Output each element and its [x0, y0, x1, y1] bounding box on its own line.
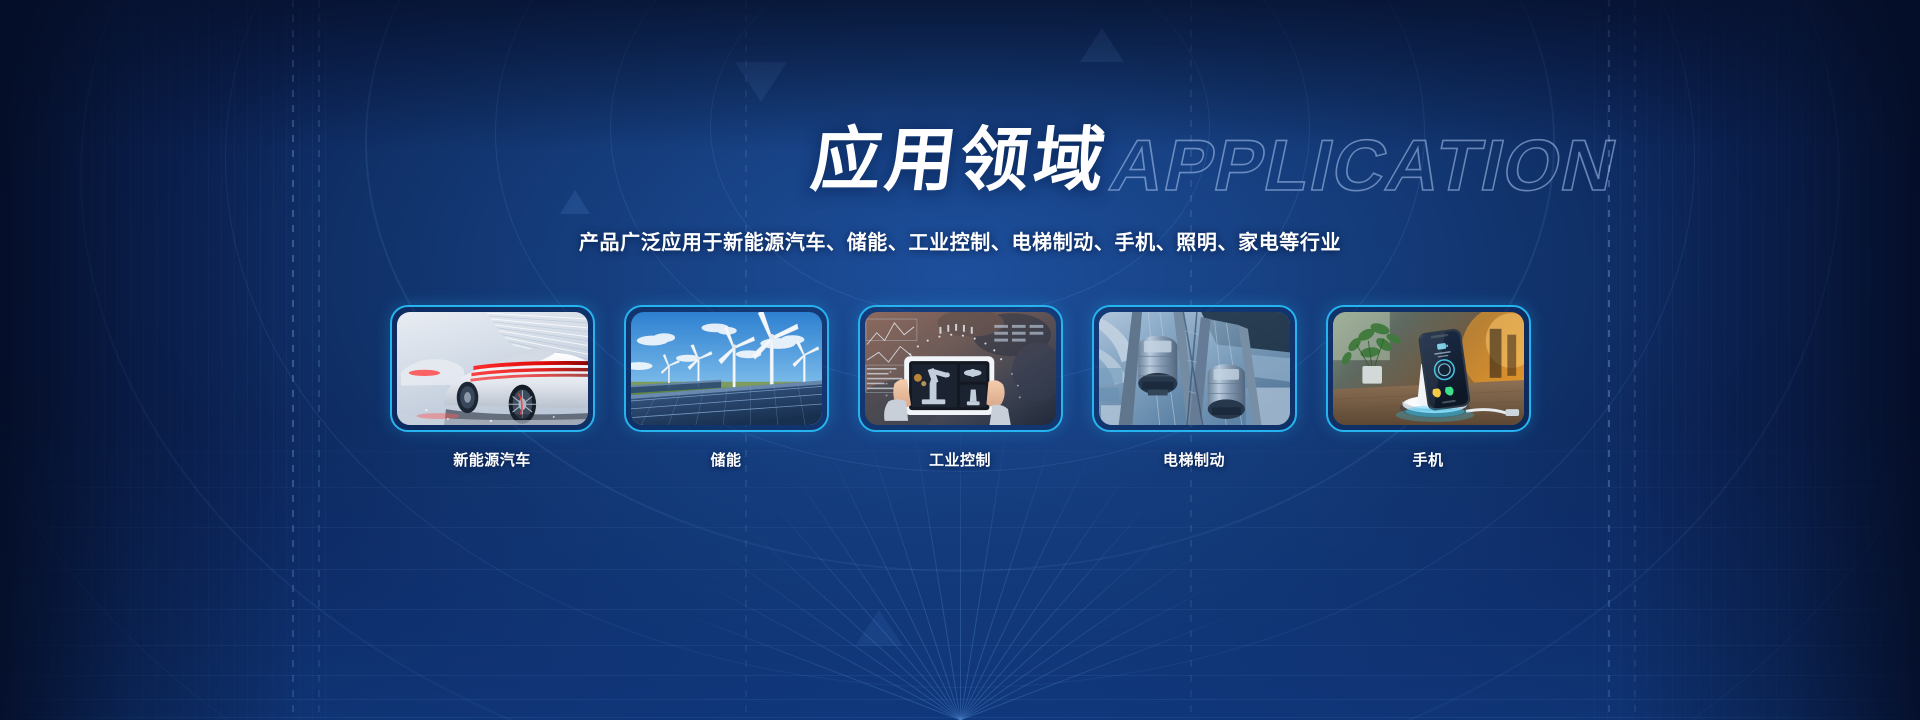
card-label: 电梯制动 — [1092, 449, 1297, 470]
card-label: 工业控制 — [858, 449, 1063, 470]
card-frame[interactable] — [390, 305, 595, 432]
card-frame[interactable] — [1092, 305, 1297, 432]
card-label: 储能 — [624, 449, 829, 470]
application-card-row: 新能源汽车 — [0, 305, 1920, 470]
card-frame[interactable] — [624, 305, 829, 432]
application-card-elevator-brake[interactable]: 电梯制动 — [1092, 305, 1297, 470]
card-frame[interactable] — [858, 305, 1063, 432]
smartphone-wireless-charger-image — [1333, 312, 1524, 425]
card-label: 手机 — [1326, 449, 1531, 470]
page-subtitle: 产品广泛应用于新能源汽车、储能、工业控制、电梯制动、手机、照明、家电等行业 — [0, 226, 1920, 255]
ev-sports-car-image — [397, 312, 588, 425]
glass-elevator-image — [1099, 312, 1290, 425]
application-card-industrial-control[interactable]: 工业控制 — [858, 305, 1063, 470]
card-frame[interactable] — [1326, 305, 1531, 432]
card-label: 新能源汽车 — [390, 449, 595, 470]
page-title: 应用领域 — [806, 112, 1114, 208]
banner-stage: APPLICATION 应用领域 产品广泛应用于新能源汽车、储能、工业控制、电梯… — [0, 0, 1920, 720]
application-card-energy-storage[interactable]: 储能 — [624, 305, 829, 470]
page-title-english: APPLICATION — [1102, 118, 1627, 214]
application-card-mobile-phone[interactable]: 手机 — [1326, 305, 1531, 470]
application-card-ev[interactable]: 新能源汽车 — [390, 305, 595, 470]
banner-heading: APPLICATION 应用领域 — [0, 112, 1920, 208]
industrial-tablet-robot-image — [865, 312, 1056, 425]
solar-wind-farm-image — [631, 312, 822, 425]
